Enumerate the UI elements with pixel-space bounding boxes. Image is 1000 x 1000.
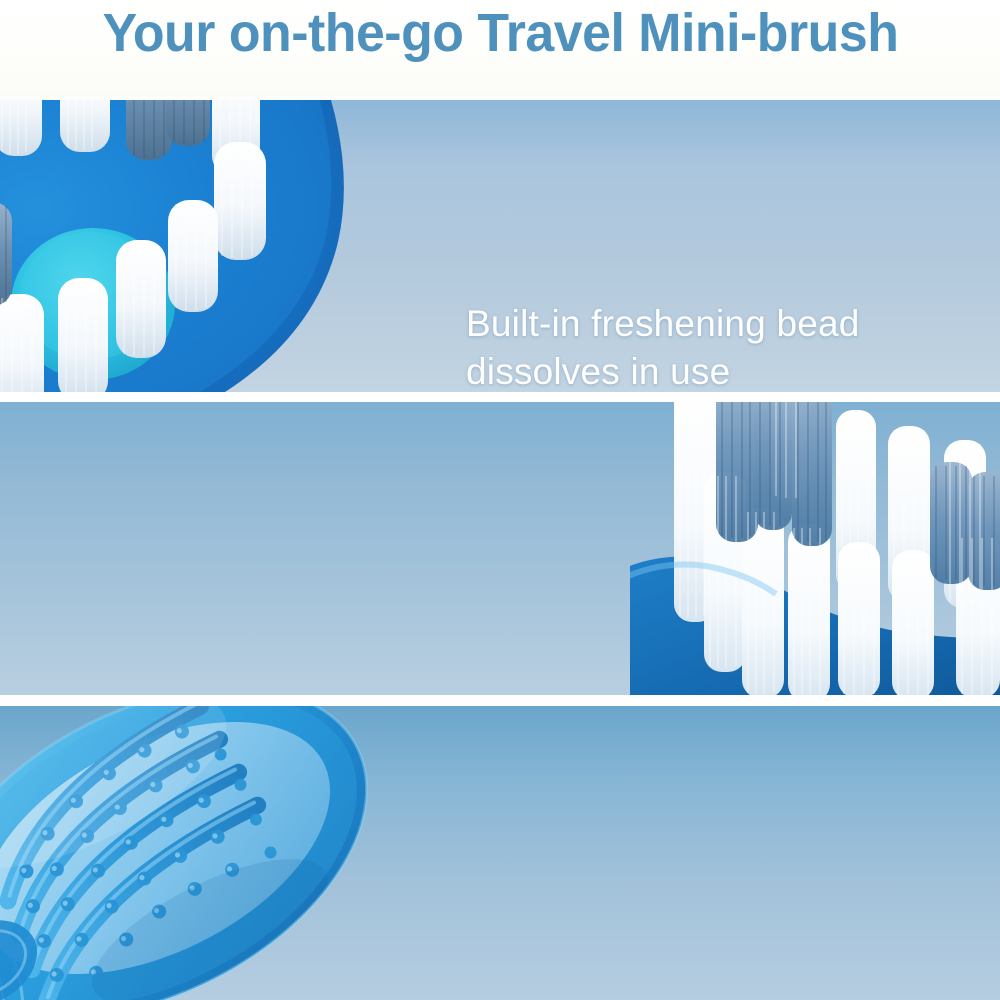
feature-panel-tongue-cheek-cleaner: Quadruple Tongue & Cheek Cleaner, remove… <box>0 706 1000 1000</box>
panel-divider-1 <box>0 392 1000 402</box>
panel-divider-2 <box>0 695 1000 706</box>
product-feature-infographic: Your on-the-go Travel Mini-brush <box>0 0 1000 1000</box>
panel-1-caption: Built-in freshening bead dissolves in us… <box>466 300 966 392</box>
tongue-cheek-cleaner-photo <box>0 706 430 1000</box>
header-banner: Your on-the-go Travel Mini-brush <box>0 0 1000 96</box>
bristle-tufts-closeup-photo <box>630 402 1000 695</box>
page-title: Your on-the-go Travel Mini-brush <box>102 2 898 64</box>
feature-panel-medium-bristles: Medium bristles for superior cleaning <box>0 402 1000 695</box>
brush-head-freshening-bead-photo <box>0 100 410 392</box>
feature-panel-freshening-bead: Built-in freshening bead dissolves in us… <box>0 100 1000 392</box>
